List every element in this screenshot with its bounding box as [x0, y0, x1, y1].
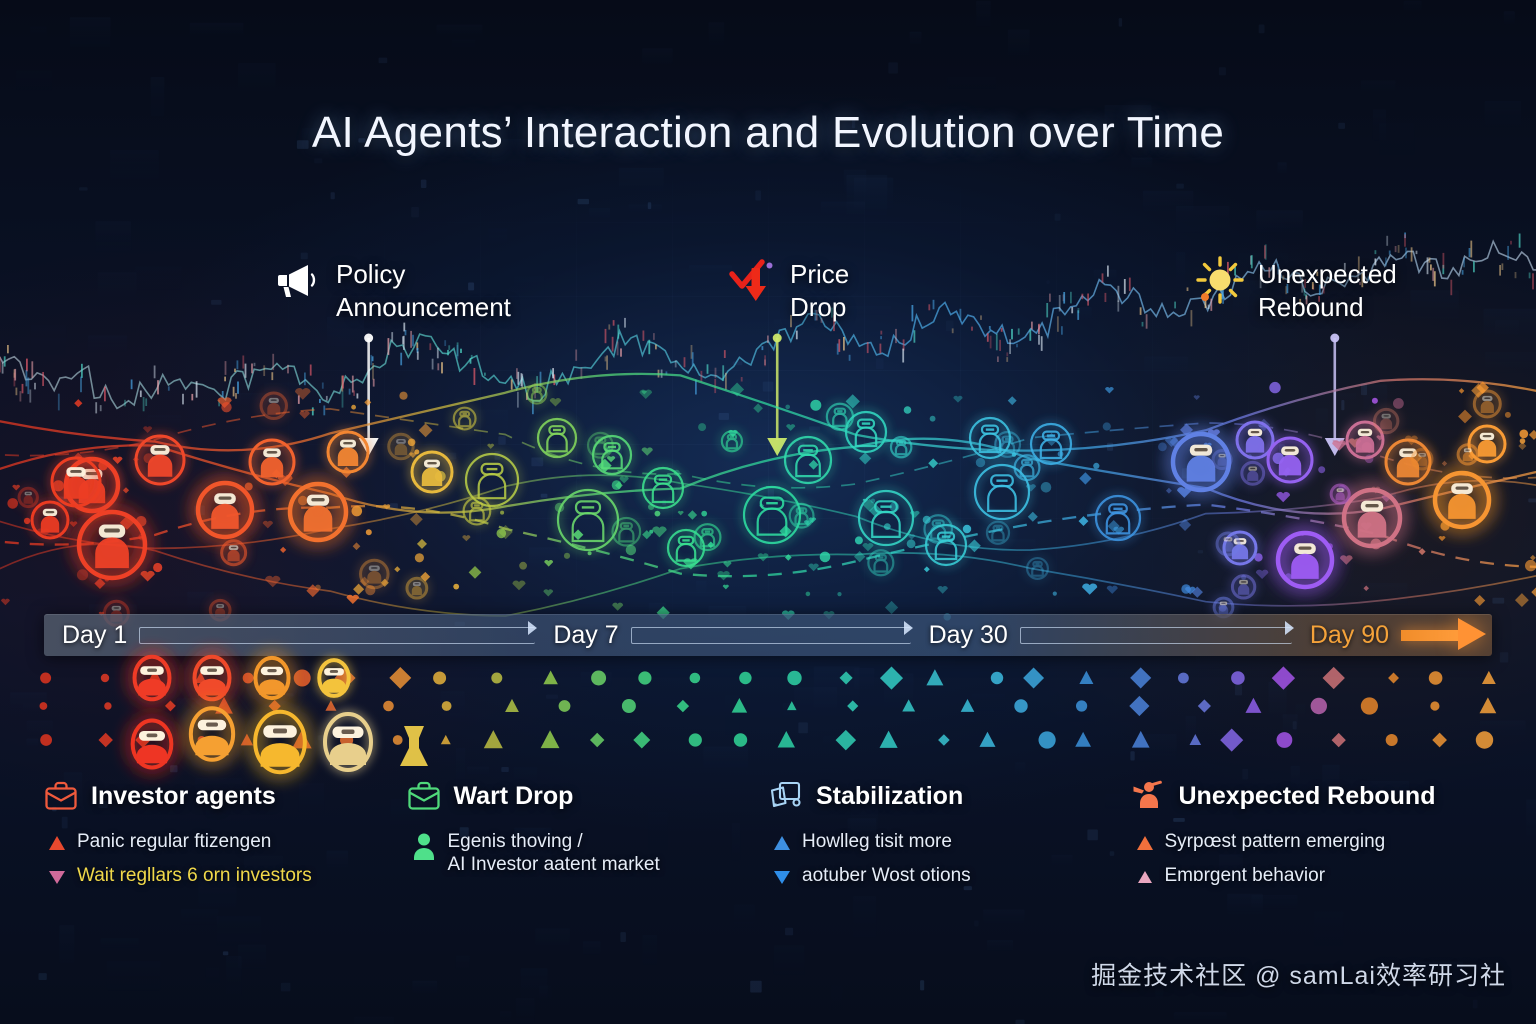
legend-item-text: aotuber Wost otions	[802, 864, 971, 887]
legend-title: Unexpected Rebound	[1179, 782, 1436, 811]
legend-header: Stabilization	[769, 780, 1114, 812]
triangle-up-marker	[1136, 868, 1154, 886]
triangle-down-marker	[773, 868, 791, 886]
legend-item: Howlleg tisit more	[769, 830, 1114, 853]
legend-header: Wart Drop	[407, 780, 752, 812]
legend-header: Investor agents	[44, 780, 389, 812]
person-stand-icon	[1132, 780, 1166, 812]
legend-item: Syrpœst pattern emerging	[1132, 830, 1477, 853]
briefcase-icon	[44, 780, 78, 812]
watermark: 掘金技术社区 @ samLai效率研习社	[1091, 956, 1506, 992]
legend-item: Emɒrgent behavior	[1132, 864, 1477, 887]
legend-header: Unexpected Rebound	[1132, 780, 1477, 812]
legend-column-investor-agents: Investor agents Panic regular ftizengen …	[44, 780, 407, 898]
legend-column-unexpected-rebound: Unexpected Rebound Syrpœst pattern emerg…	[1132, 780, 1495, 898]
legend-column-stabilization: Stabilization Howlleg tisit more aotuber…	[769, 780, 1132, 898]
triangle-up-marker	[773, 834, 791, 852]
legend-item-text: Syrpœst pattern emerging	[1165, 830, 1386, 853]
legend-title: Wart Drop	[454, 782, 574, 811]
legend-item: aotuber Wost otions	[769, 864, 1114, 887]
legend-item-text: Emɒrgent behavior	[1165, 864, 1326, 887]
briefcase-icon	[407, 780, 441, 812]
legend-item: Panic regular ftizengen	[44, 830, 389, 853]
legend-item-text: Panic regular ftizengen	[77, 830, 271, 853]
legend-item-text: Wait regllars 6 orn investors	[77, 864, 312, 887]
legend: Investor agents Panic regular ftizengen …	[44, 780, 1494, 898]
legend-title: Stabilization	[816, 782, 963, 811]
legend-item: Egenis thoving / AI Investor aatent mark…	[407, 830, 752, 876]
legend-title: Investor agents	[91, 782, 276, 811]
triangle-down-marker	[48, 868, 66, 886]
legend-item-text: Howlleg tisit more	[802, 830, 952, 853]
legend-column-wart-drop: Wart Drop Egenis thoving / AI Investor a…	[407, 780, 770, 898]
chart-card-icon	[769, 780, 803, 812]
triangle-up-marker	[48, 834, 66, 852]
triangle-up-marker	[1136, 834, 1154, 852]
infographic-canvas: AI Agents’ Interaction and Evolution ove…	[0, 0, 1536, 1024]
legend-item-text: Egenis thoving / AI Investor aatent mark…	[448, 830, 660, 876]
legend-item: Wait regllars 6 orn investors	[44, 864, 389, 887]
person-marker	[411, 832, 437, 860]
